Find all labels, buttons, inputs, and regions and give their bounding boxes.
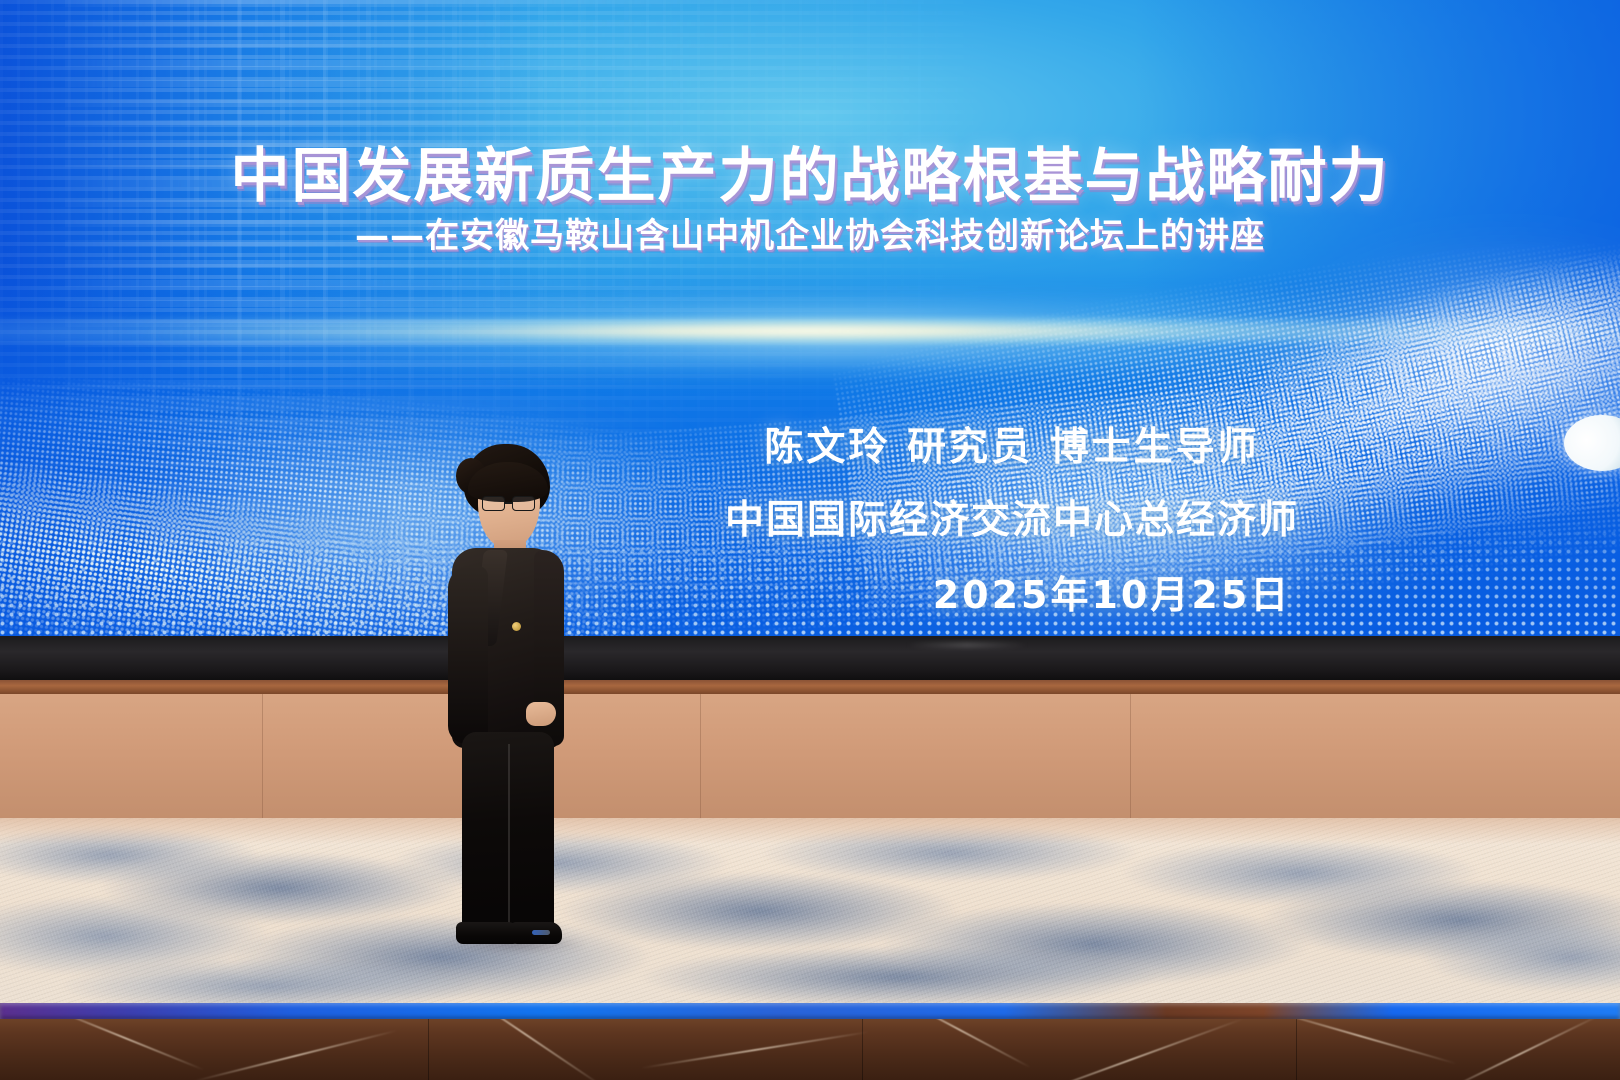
blazer-sleeve-left [448,566,488,744]
speaker-name-line: 陈文玲 研究员 博士生导师 [662,416,1362,472]
wall-panel-seam [262,694,263,818]
marble-vein [446,1019,604,1080]
marble-tile-seam [428,1019,429,1080]
slide-title-subtitle: ——在安徽马鞍山含山中机企业协会科技创新论坛上的讲座 [0,208,1620,257]
marble-tile-seam [862,1019,863,1080]
marble-vein [1264,1019,1457,1064]
led-screen-bezel [0,636,1620,680]
brooch-pin [512,622,521,631]
marble-vein [46,1019,204,1070]
conference-stage-photo: 中国发展新质生产力的战略根基与战略耐力 ——在安徽马鞍山含山中机企业协会科技创新… [0,0,1620,1080]
trouser-seam [508,744,510,924]
shoe-highlight [532,930,550,935]
bezel-glint [907,642,1027,648]
marble-vein [1439,1019,1601,1080]
blue-accent-floor-strip [0,1003,1620,1019]
glasses-lens-right [512,496,535,511]
glasses-lens-left [482,496,505,511]
slide-date-line: 2025年10月25日 [662,564,1362,619]
marble-vein [889,1019,1031,1068]
wall-panel-seam [1130,694,1131,818]
wood-trim-rail [0,680,1620,694]
carpet-top-shading [0,818,1620,844]
speaker-credentials-block: 陈文玲 研究员 博士生导师 中国国际经济交流中心总经济师 2025年10月25日 [662,416,1362,619]
carpet-grain-texture [0,818,1620,1008]
hand [526,702,556,726]
slide-title-main: 中国发展新质生产力的战略根基与战略耐力 [0,128,1620,213]
wall-panel-seam [700,694,701,818]
glasses-bridge [505,502,512,504]
wall-panel [0,694,1620,818]
marble-vein [193,1030,397,1080]
led-backdrop-screen: 中国发展新质生产力的战略根基与战略耐力 ——在安徽马鞍山含山中机企业协会科技创新… [0,0,1620,636]
patterned-carpet [0,818,1620,1008]
marble-floor-edge [0,1019,1620,1080]
speaker-organization-line: 中国国际经济交流中心总经济师 [662,489,1362,545]
slide-text-layer: 中国发展新质生产力的战略根基与战略耐力 ——在安徽马鞍山含山中机企业协会科技创新… [0,0,1620,636]
marble-vein [641,1031,868,1068]
marble-tile-seam [1296,1019,1297,1080]
speaker-person [426,444,596,954]
marble-vein [1017,1019,1243,1080]
